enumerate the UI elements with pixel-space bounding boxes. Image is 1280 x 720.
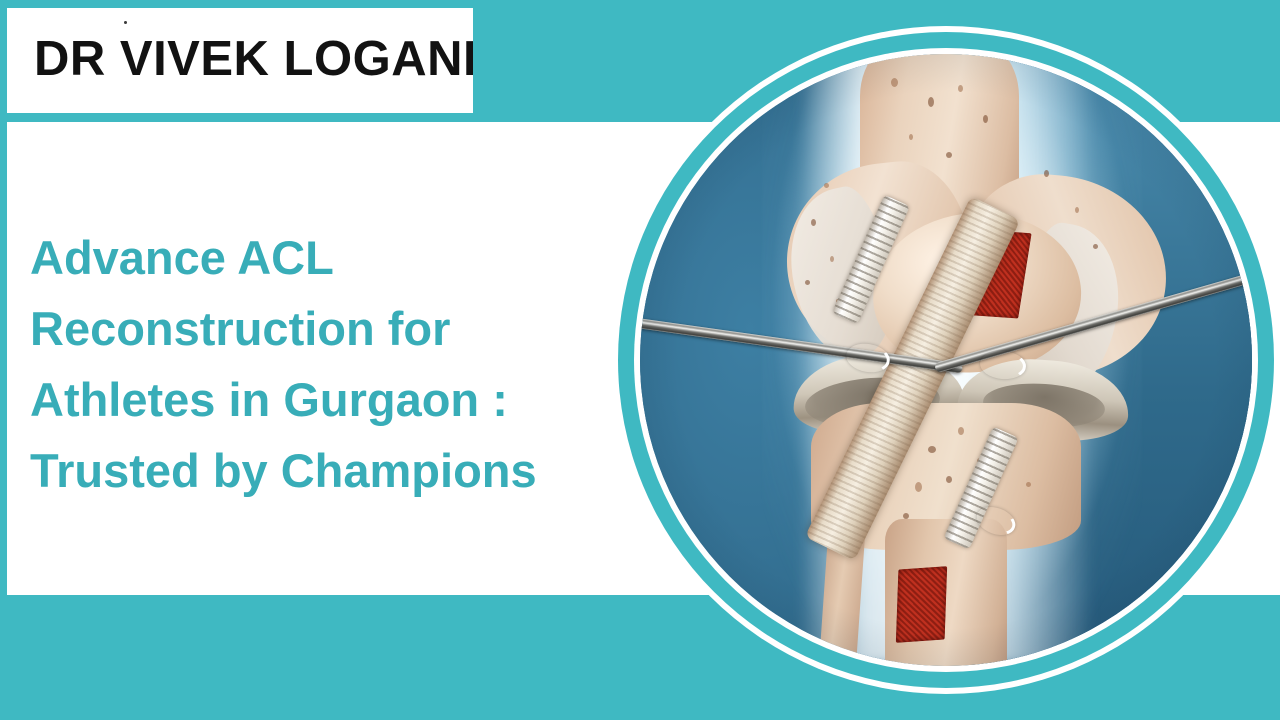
knee-anatomy-illustration	[640, 54, 1252, 666]
brand-logo-text: DR VIVEK LOGANI	[34, 30, 473, 88]
promotional-banner: DR VIVEK LOGANI Advance ACL Reconstructi…	[0, 0, 1280, 720]
bone-pore	[1093, 244, 1098, 249]
bone-pore	[946, 152, 952, 158]
page-title: Advance ACL Reconstruction for Athletes …	[30, 222, 630, 506]
bone-pore	[909, 134, 913, 140]
brand-logo[interactable]: DR VIVEK LOGANI	[7, 8, 473, 113]
bone-pore	[928, 446, 936, 453]
headline-line-2: Reconstruction for	[30, 293, 630, 364]
bone-pore	[958, 85, 963, 92]
logo-speck-icon	[124, 21, 127, 24]
bone-pore	[928, 97, 934, 107]
bone-pore	[1075, 207, 1079, 213]
left-accent-band	[0, 0, 7, 720]
headline-line-4: Trusted by Champions	[30, 435, 630, 506]
tibial-graft-window	[896, 566, 947, 643]
hero-image-circle	[612, 26, 1280, 694]
headline-line-1: Advance ACL	[30, 222, 630, 293]
headline-line-3: Athletes in Gurgaon :	[30, 364, 630, 435]
bone-pore	[830, 256, 834, 262]
bone-pore	[983, 115, 988, 123]
bone-pore	[824, 183, 829, 188]
